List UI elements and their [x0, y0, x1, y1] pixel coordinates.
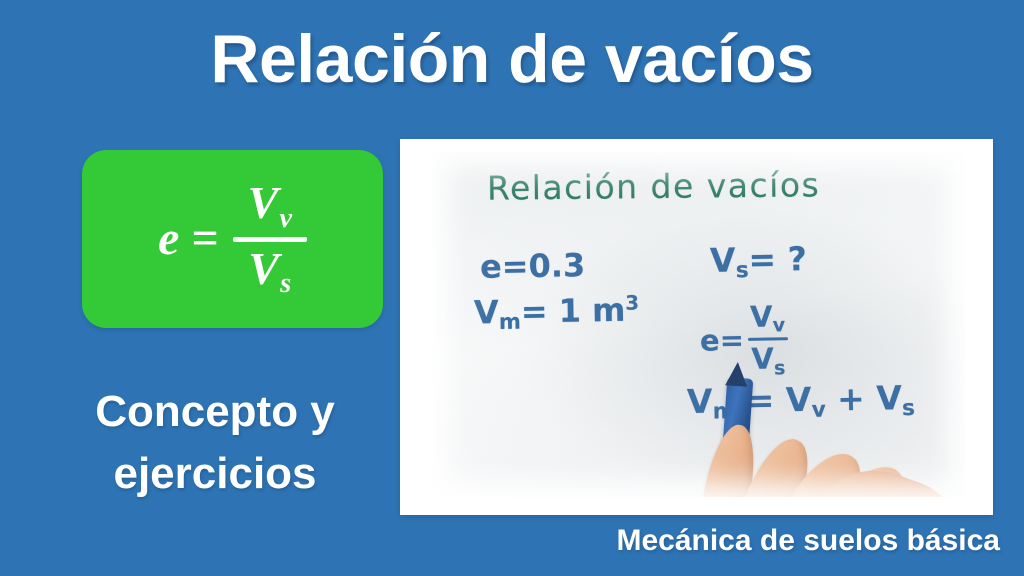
- handwriting-equation-volume-sum: Vm = Vv + Vs: [687, 378, 916, 425]
- void-ratio-formula: e = Vv Vs: [158, 176, 307, 302]
- index-finger: [695, 421, 763, 497]
- hw-fraction: Vv Vs: [747, 299, 788, 379]
- hw-num-base: V: [750, 300, 773, 334]
- formula-card: e = Vv Vs: [82, 150, 383, 328]
- footer-caption: Mecánica de suelos básica: [616, 522, 1000, 560]
- sum-term2-subscript: s: [902, 396, 915, 421]
- whiteboard-title-handwriting: Relación de vacíos: [487, 166, 821, 207]
- hw-fraction-wrap: e= Vv Vs: [699, 299, 788, 380]
- subtitle-line-1: Concepto y: [40, 381, 390, 443]
- formula-denominator-base: V: [248, 243, 279, 294]
- sum-term1-subscript: v: [811, 398, 826, 423]
- hw-fraction-numerator: Vv: [750, 299, 786, 337]
- sum-lhs-subscript: m: [713, 399, 736, 424]
- video-panel: Relación de vacíos e=0.3 Vm= 1 m3 Vs= ? …: [400, 139, 993, 515]
- marker-icon: [721, 377, 754, 475]
- marker-band: [727, 455, 749, 490]
- pinky-finger: [817, 453, 918, 497]
- sum-lhs-base: V: [687, 382, 713, 421]
- formula-numerator-base: V: [248, 177, 279, 228]
- formula-denominator: Vs: [242, 242, 297, 302]
- handwriting-given-total-volume: Vm= 1 m3: [474, 291, 640, 335]
- formula-denominator-subscript: s: [280, 269, 291, 300]
- vs-question: = ?: [748, 239, 807, 279]
- sum-term1-base: V: [786, 380, 812, 419]
- formula-equals-sign: =: [181, 215, 232, 263]
- sum-plus: +: [837, 379, 865, 418]
- marker-tip-icon: [725, 361, 749, 386]
- middle-finger: [728, 430, 822, 497]
- hw-fraction-denominator: Vs: [751, 342, 785, 380]
- vm-subscript: m: [499, 309, 521, 334]
- vs-subscript: s: [735, 258, 748, 283]
- formula-fraction: Vv Vs: [233, 176, 307, 302]
- slide-canvas: Relación de vacíos e = Vv Vs Concepto y …: [0, 0, 1024, 576]
- vm-base: V: [474, 293, 499, 331]
- hand-with-marker: [690, 364, 965, 497]
- hw-den-base: V: [751, 342, 774, 376]
- handwriting-given-void-ratio: e=0.3: [480, 246, 586, 286]
- vm-exponent: 3: [625, 292, 639, 315]
- formula-numerator: Vv: [242, 176, 298, 236]
- ring-finger: [770, 441, 876, 497]
- vm-equals-value: = 1 m: [520, 291, 625, 331]
- subtitle-line-2: ejercicios: [40, 443, 390, 505]
- handwriting-unknown-vs: Vs= ?: [710, 239, 808, 284]
- subtitle: Concepto y ejercicios: [40, 381, 390, 505]
- page-title: Relación de vacíos: [0, 18, 1024, 100]
- sum-term2-base: V: [876, 378, 902, 417]
- handwriting-equation-void-ratio: e= Vv Vs: [699, 299, 788, 380]
- hw-fraction-bar: [748, 338, 788, 342]
- formula-numerator-subscript: v: [279, 204, 292, 235]
- hw-fraction-lhs: e=: [700, 323, 745, 358]
- whiteboard-photo: Relación de vacíos e=0.3 Vm= 1 m3 Vs= ? …: [432, 152, 965, 497]
- palm: [794, 452, 965, 497]
- vs-base: V: [710, 240, 736, 279]
- hw-num-subscript: v: [773, 314, 786, 337]
- formula-lhs: e: [158, 215, 181, 263]
- sum-equals: =: [746, 380, 774, 419]
- hw-den-subscript: s: [774, 356, 786, 379]
